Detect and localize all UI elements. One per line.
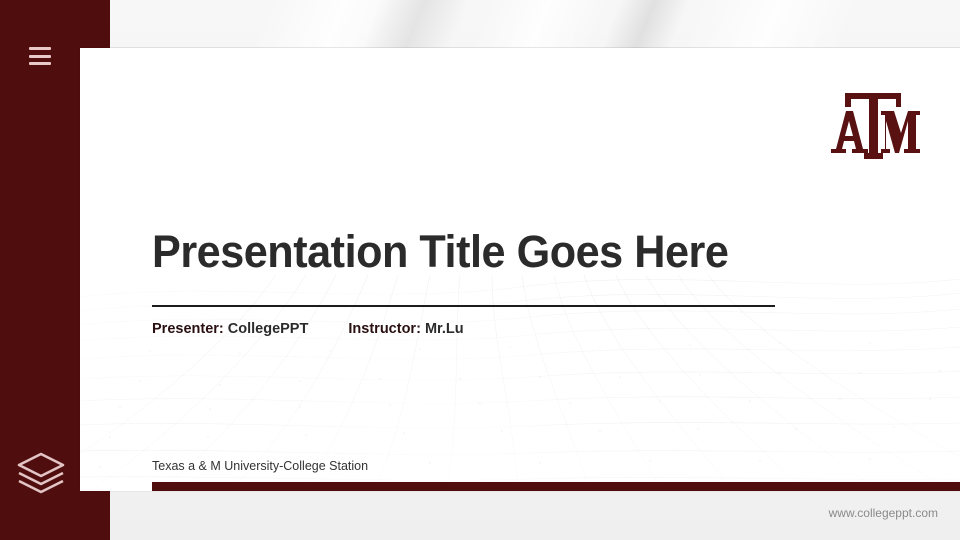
- presenter-value: CollegePPT: [228, 321, 309, 337]
- hamburger-bar: [29, 62, 51, 65]
- slide-canvas: Presentation Title Goes Here Presenter: …: [80, 48, 960, 491]
- layers-stack-icon[interactable]: [14, 448, 68, 498]
- slide-accent-bar: [152, 482, 960, 491]
- university-name: Texas a & M University-College Station: [152, 459, 368, 473]
- texas-am-logo: [825, 83, 920, 163]
- presenter-label: Presenter:: [152, 321, 224, 337]
- website-footer: www.collegeppt.com: [829, 506, 938, 520]
- hamburger-bar: [29, 55, 51, 58]
- screenshot-root: Presentation Title Goes Here Presenter: …: [0, 0, 960, 540]
- hamburger-bar: [29, 47, 51, 50]
- title-divider: [152, 305, 775, 307]
- instructor-label: Instructor:: [348, 321, 421, 337]
- instructor-value: Mr.Lu: [425, 321, 464, 337]
- hamburger-menu-icon[interactable]: [29, 47, 51, 65]
- page-title: Presentation Title Goes Here: [152, 226, 728, 278]
- wireframe-mesh-graphic: [80, 261, 960, 491]
- byline: Presenter: CollegePPT Instructor: Mr.Lu: [152, 321, 464, 337]
